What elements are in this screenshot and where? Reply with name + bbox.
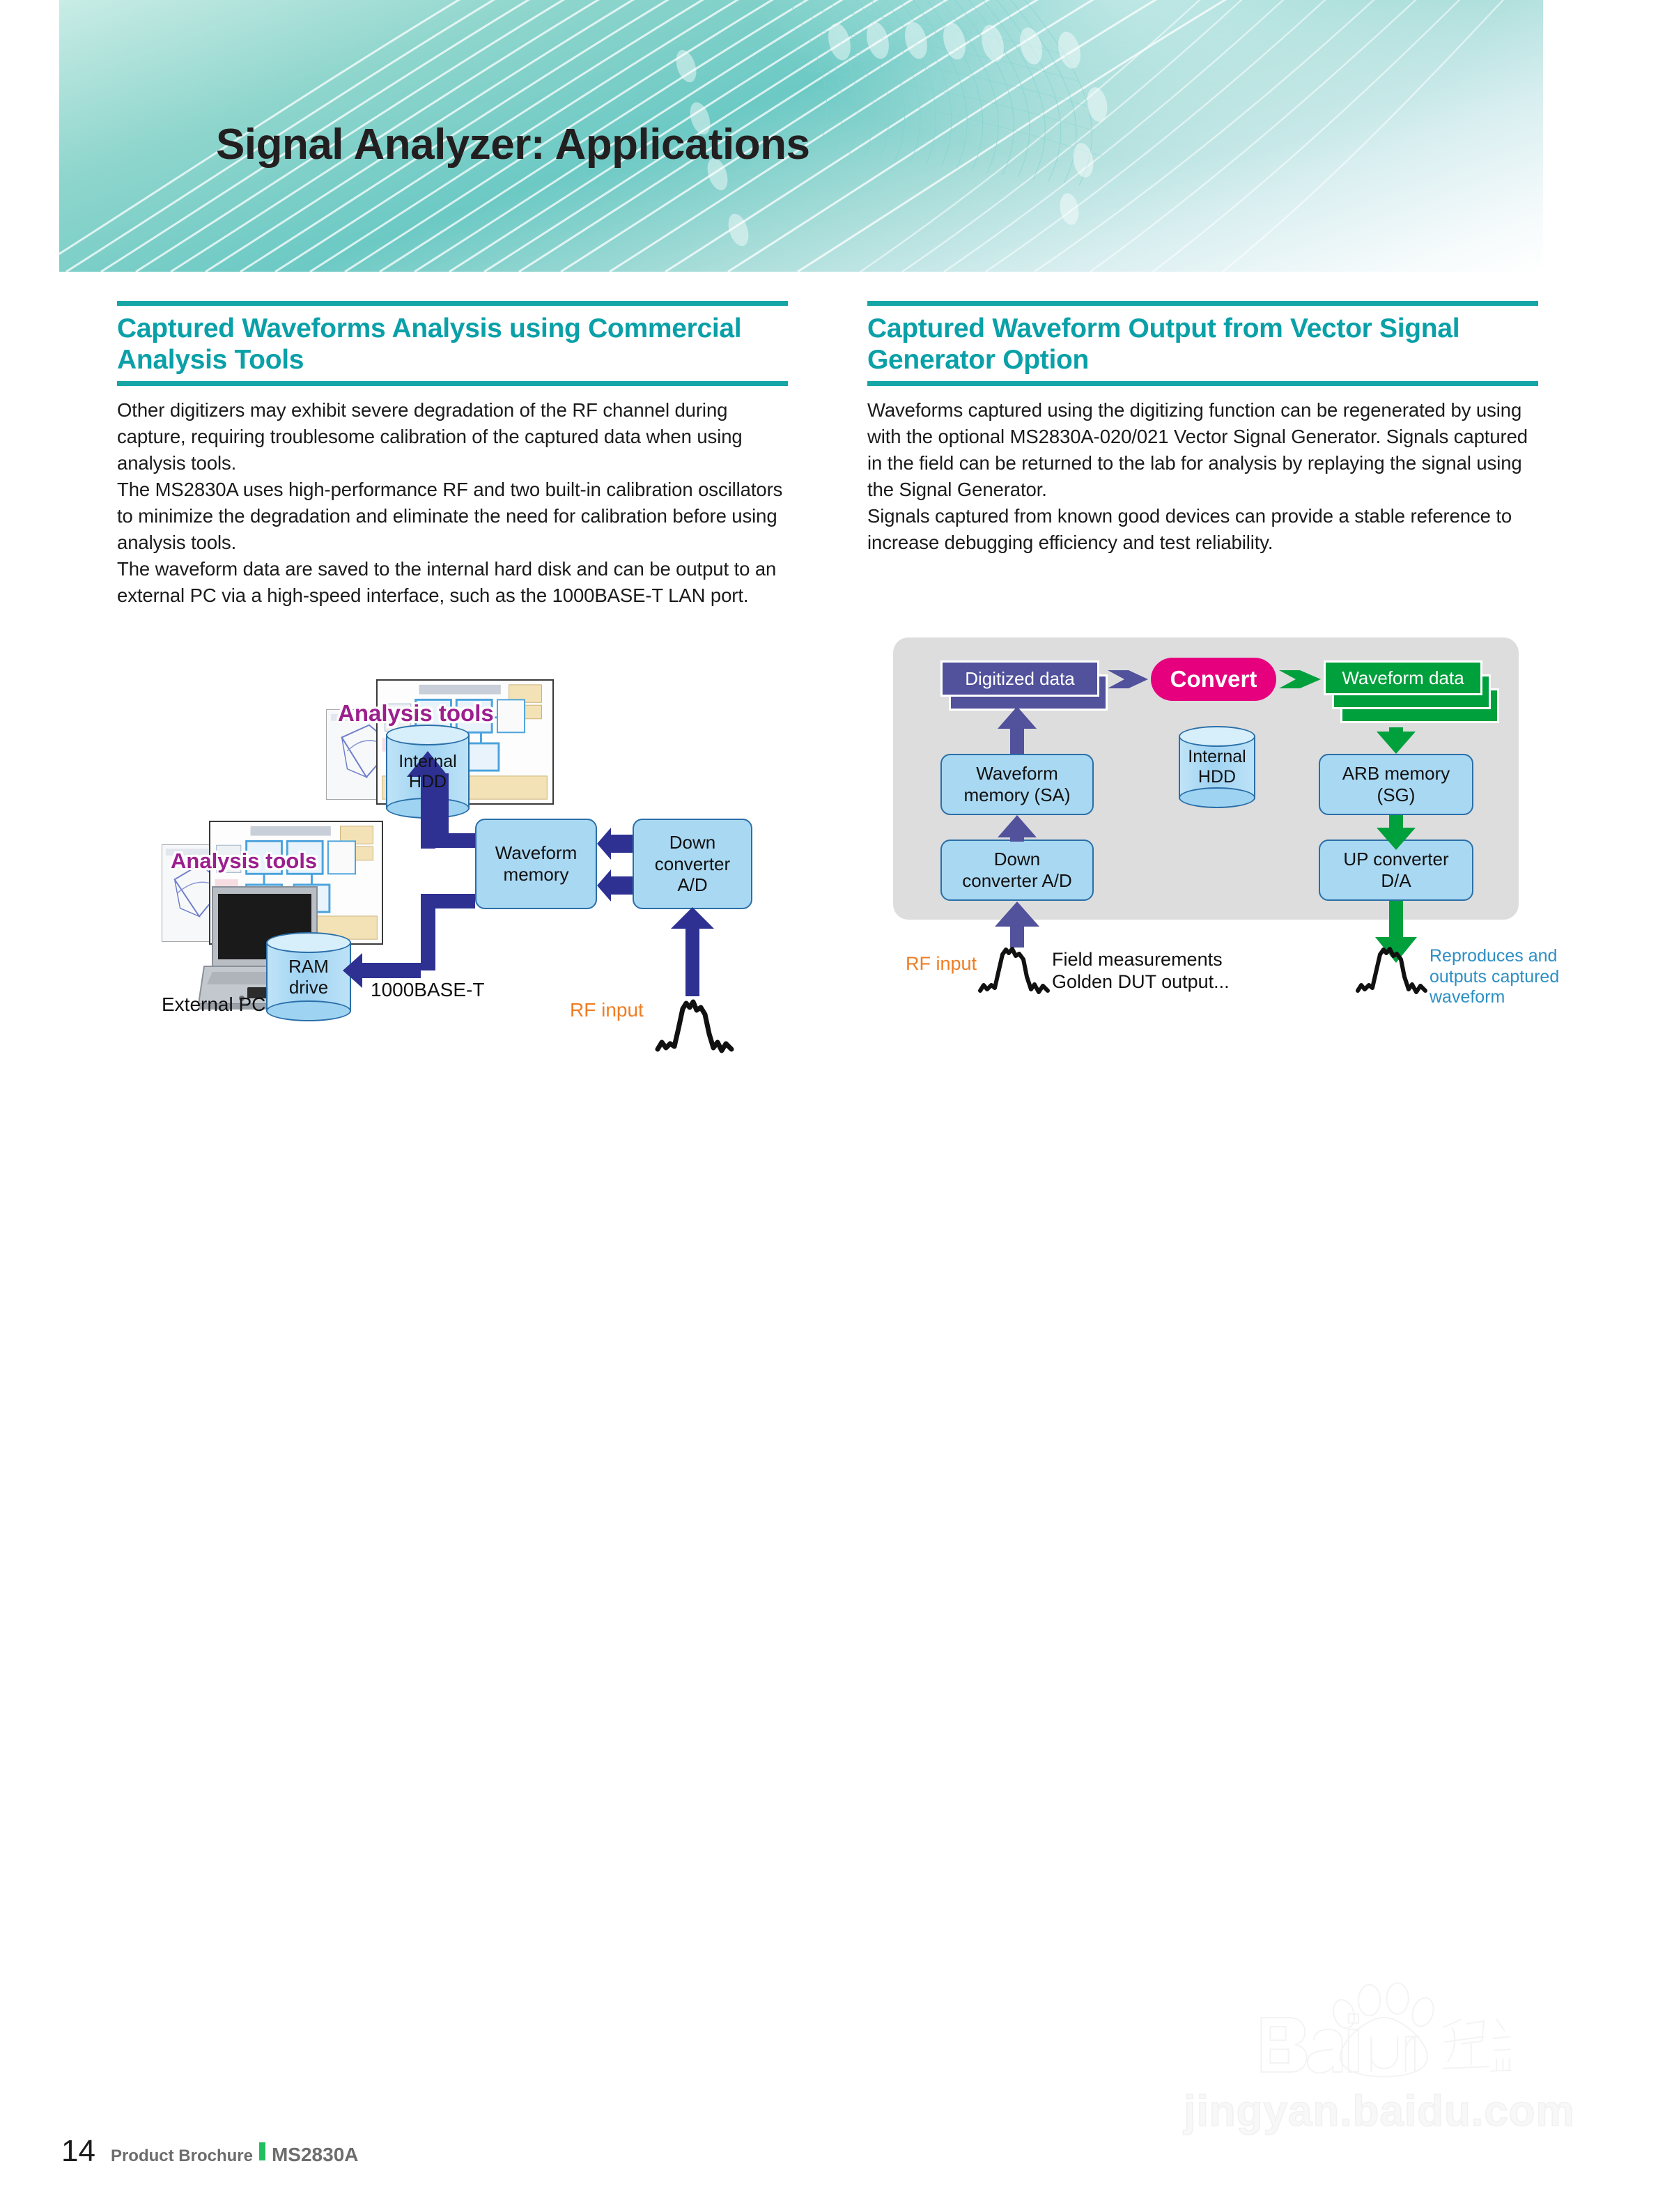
down-converter-ad-box-left: Down converter A/D [633,819,752,909]
down-converter-ad-right-line2: converter A/D [962,870,1072,892]
right-section-rule-top [867,301,1538,306]
vsg-flow-panel [893,637,1519,920]
analysis-tool-thumbnail-top-back [326,709,410,800]
waveform-data-card-stack: Waveform data [1324,660,1505,727]
up-converter-line1: UP converter [1343,849,1448,870]
convert-pill: Convert [1151,658,1276,701]
baidu-logo-icon [1177,1982,1581,2087]
header-banner: Signal Analyzer: Applications [59,0,1543,272]
rf-waveform-glyph-right-input [977,945,1054,1000]
digitized-data-card-stack: Digitized data [940,660,1108,720]
arb-memory-line1: ARB memory [1342,763,1450,784]
internal-hdd-cylinder-left: Internal HDD [386,725,470,819]
footer-model-label: MS2830A [272,2144,359,2166]
right-paragraph-1: Waveforms captured using the digitizing … [867,397,1538,503]
right-paragraph-2: Signals captured from known good devices… [867,503,1538,556]
footer-brochure-label: Product Brochure [111,2147,253,2166]
external-pc-label: External PC [162,993,265,1016]
field-note-line1: Field measurements [1052,949,1230,971]
waveform-memory-sa-line1: Waveform [963,763,1070,784]
left-section-heading: Captured Waveforms Analysis using Commer… [117,313,788,376]
reproduce-output-note: Reproduces and outputs captured waveform [1430,946,1559,1008]
analysis-tool-thumbnail-top-front [376,679,554,805]
analysis-tool-thumbnail-left-front [209,821,383,945]
ram-drive-label-line1: RAM [266,956,351,977]
analysis-tools-label-left: Analysis tools [171,849,317,874]
reproduce-note-line1: Reproduces and [1430,946,1559,967]
right-section-rule-bottom [867,381,1538,386]
ram-drive-label-line2: drive [266,977,351,998]
rf-input-label-right: RF input [906,953,977,975]
page-number: 14 [61,2134,95,2169]
down-converter-ad-box-right: Down converter A/D [940,840,1094,901]
waveform-memory-sa-box: Waveform memory (SA) [940,754,1094,815]
page-title: Signal Analyzer: Applications [216,120,810,169]
reproduce-note-line3: waveform [1430,987,1559,1008]
analysis-tools-label-top: Analysis tools [338,700,494,727]
down-converter-line1: Down [655,832,730,853]
internal-hdd-right-line2: HDD [1179,767,1255,787]
left-section-body: Other digitizers may exhibit severe degr… [117,397,788,609]
left-column: Captured Waveforms Analysis using Commer… [117,301,788,609]
ram-drive-cylinder: RAM drive [266,932,351,1021]
page-footer: 14 Product Brochure MS2830A [61,2134,359,2169]
internal-hdd-label-line1: Internal [386,752,470,772]
reproduce-note-line2: outputs captured [1430,967,1559,988]
field-measurement-note: Field measurements Golden DUT output... [1052,949,1230,993]
internal-hdd-cylinder-right: Internal HDD [1179,726,1255,808]
left-section-rule-top [117,301,788,306]
internal-hdd-label-line2: HDD [386,772,470,792]
right-column: Captured Waveform Output from Vector Sig… [867,301,1538,556]
waveform-memory-box: Waveform memory [475,819,597,909]
down-converter-line2: converter [655,853,730,875]
rf-waveform-glyph-left [655,998,738,1060]
waveform-memory-sa-line2: memory (SA) [963,784,1070,806]
internal-hdd-right-line1: Internal [1179,747,1255,767]
right-section-heading: Captured Waveform Output from Vector Sig… [867,313,1538,376]
analysis-tool-thumbnail-left-back [162,844,238,942]
field-note-line2: Golden DUT output... [1052,971,1230,993]
digitized-data-label: Digitized data [965,668,1075,690]
arb-memory-sg-box: ARB memory (SG) [1319,754,1473,815]
lan-1000base-t-label: 1000BASE-T [371,978,484,1001]
left-paragraph-3: The waveform data are saved to the inter… [117,556,788,609]
arb-memory-line2: (SG) [1342,784,1450,806]
left-paragraph-1: Other digitizers may exhibit severe degr… [117,397,788,477]
up-converter-line2: D/A [1343,870,1448,892]
up-converter-da-box: UP converter D/A [1319,840,1473,901]
watermark-url: jingyan.baidu.com [1177,2087,1581,2136]
waveform-memory-line1: Waveform [495,842,578,864]
waveform-data-label: Waveform data [1342,667,1464,689]
down-converter-line3: A/D [655,874,730,896]
footer-separator-bar [259,2142,265,2160]
convert-label: Convert [1170,666,1257,693]
left-paragraph-2: The MS2830A uses high-performance RF and… [117,477,788,556]
right-section-body: Waveforms captured using the digitizing … [867,397,1538,556]
baidu-jingyan-watermark: jingyan.baidu.com [1177,1982,1581,2142]
rf-waveform-glyph-right-output [1355,945,1432,1000]
down-converter-ad-right-line1: Down [962,849,1072,870]
left-section-rule-bottom [117,381,788,386]
waveform-memory-line2: memory [495,864,578,885]
external-pc-laptop-icon [199,874,348,1014]
rf-input-label-left: RF input [570,999,644,1021]
